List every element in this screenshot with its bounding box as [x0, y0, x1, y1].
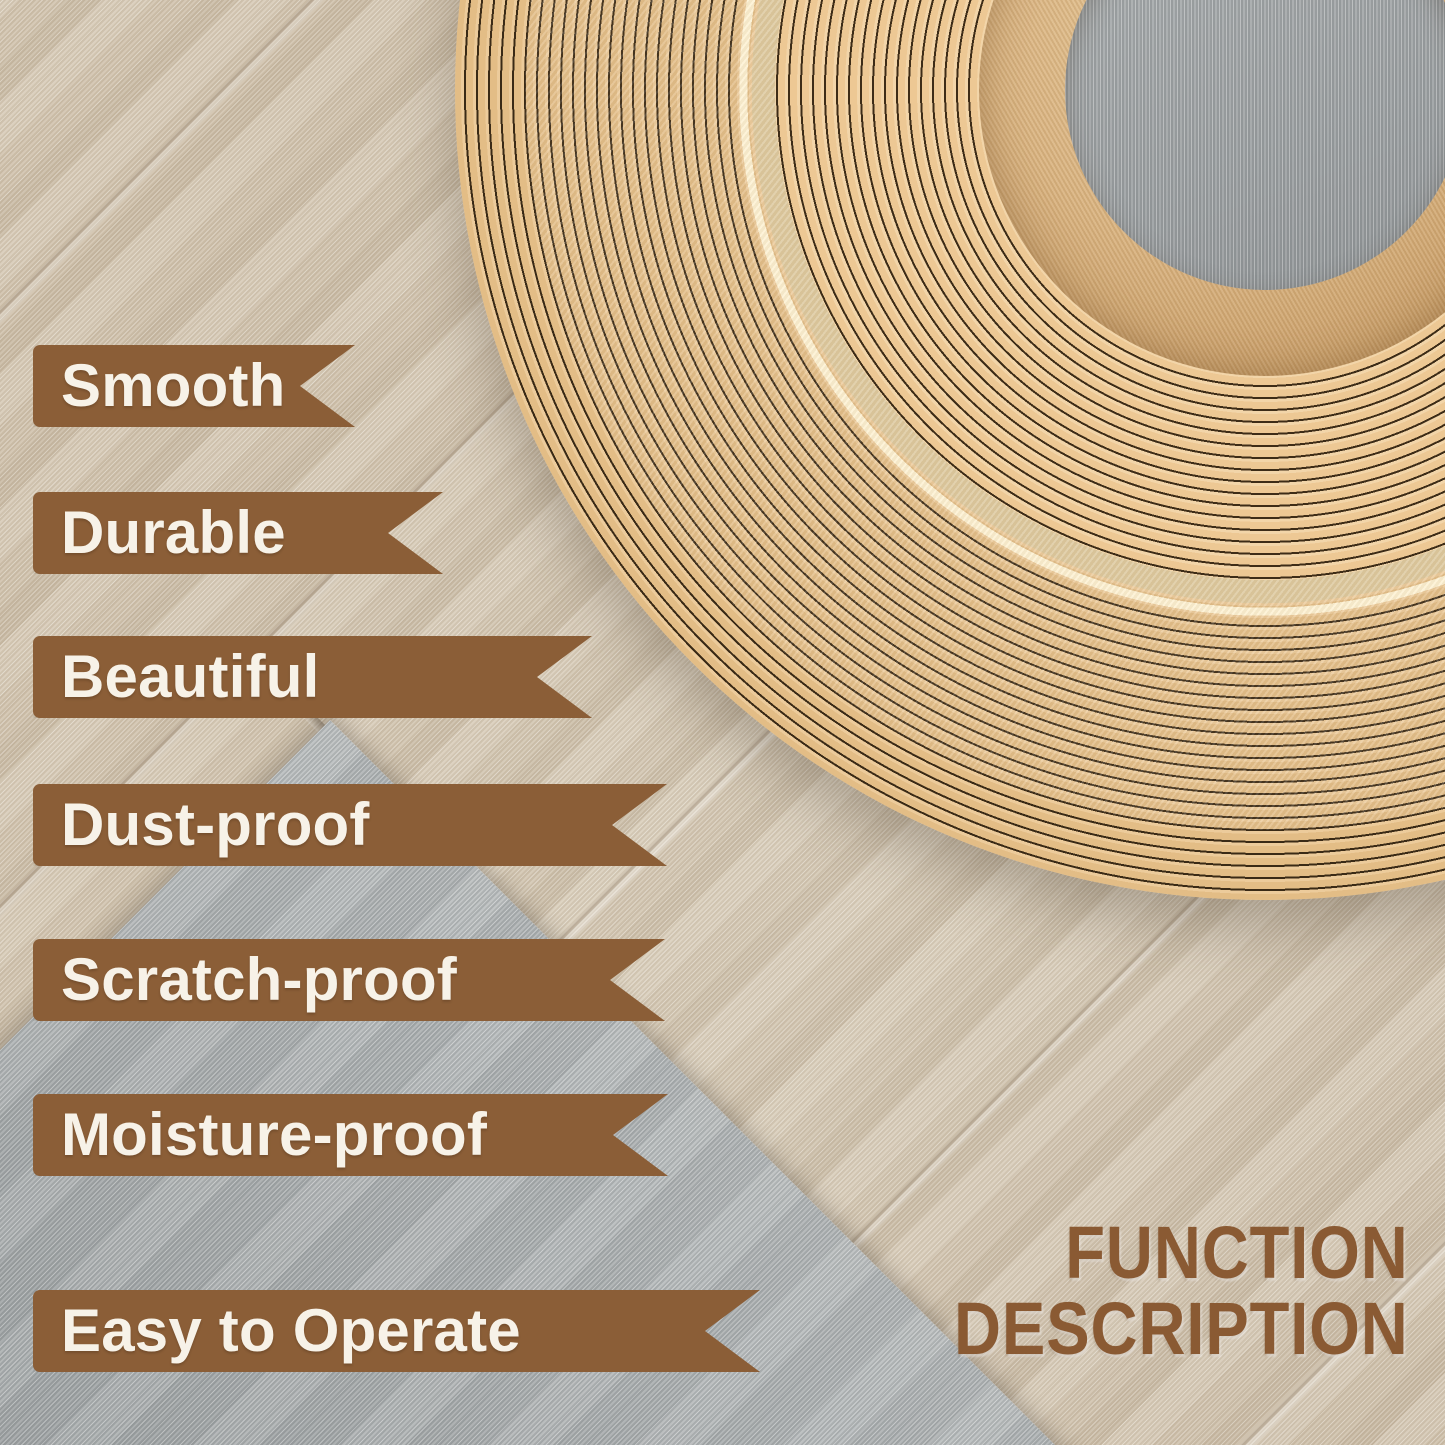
feature-banner-easy-to-operate: Easy to Operate	[33, 1290, 760, 1372]
feature-banner-moisture-proof: Moisture-proof	[33, 1094, 668, 1176]
feature-label-durable: Durable	[33, 503, 286, 563]
section-heading: FUNCTION DESCRIPTION	[954, 1215, 1409, 1367]
feature-label-beautiful: Beautiful	[33, 647, 319, 707]
product-feature-graphic: Smooth Durable Beautiful Dust-proof Scra…	[0, 0, 1445, 1445]
feature-label-smooth: Smooth	[33, 356, 286, 416]
feature-label-moisture-proof: Moisture-proof	[33, 1105, 487, 1165]
feature-label-scratch-proof: Scratch-proof	[33, 950, 457, 1010]
feature-banner-smooth: Smooth	[33, 345, 355, 427]
heading-line-1: FUNCTION	[954, 1215, 1409, 1291]
feature-banner-beautiful: Beautiful	[33, 636, 592, 718]
feature-banner-scratch-proof: Scratch-proof	[33, 939, 665, 1021]
feature-label-easy-to-operate: Easy to Operate	[33, 1301, 521, 1361]
feature-banner-durable: Durable	[33, 492, 443, 574]
feature-label-dust-proof: Dust-proof	[33, 795, 370, 855]
feature-banner-dust-proof: Dust-proof	[33, 784, 667, 866]
heading-line-2: DESCRIPTION	[954, 1291, 1409, 1367]
